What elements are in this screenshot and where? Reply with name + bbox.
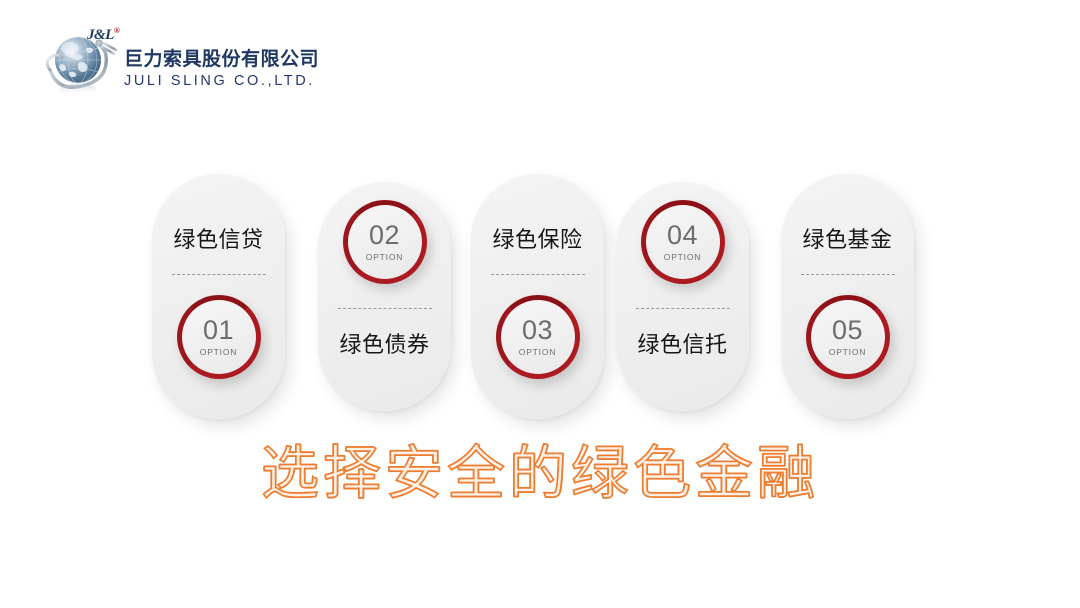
- option-number-circle[interactable]: 05 OPTION: [806, 295, 890, 379]
- option-sublabel: OPTION: [664, 253, 701, 262]
- card-divider: [801, 274, 895, 275]
- company-name-cn: 巨力索具股份有限公司: [124, 48, 319, 72]
- headline-title: 选择安全的绿色金融: [0, 440, 1080, 507]
- option-card-label: 绿色信贷: [173, 230, 263, 252]
- jl-monogram-text: J&L: [87, 27, 114, 43]
- option-sublabel: OPTION: [519, 348, 556, 357]
- registered-trademark-icon: ®: [114, 26, 120, 35]
- company-name-en: JULI SLING CO.,LTD.: [124, 72, 319, 92]
- option-card-label: 绿色保险: [492, 230, 582, 252]
- option-number-circle[interactable]: 02 OPTION: [343, 200, 427, 284]
- option-card-03[interactable]: 绿色保险 03 OPTION: [471, 174, 604, 419]
- card-divider: [636, 308, 730, 309]
- option-number: 02: [369, 222, 400, 249]
- company-logo: 巨力索具股份有限公司 JULI SLING CO.,LTD. J&L®: [42, 24, 332, 104]
- option-card-label: 绿色信托: [637, 335, 727, 357]
- option-number: 01: [203, 317, 234, 344]
- option-card-05[interactable]: 绿色基金 05 OPTION: [781, 174, 914, 419]
- option-card-01[interactable]: 绿色信贷 01 OPTION: [152, 174, 285, 419]
- option-card-04[interactable]: 04 OPTION 绿色信托: [616, 182, 749, 411]
- option-number-circle[interactable]: 03 OPTION: [496, 295, 580, 379]
- option-card-02[interactable]: 02 OPTION 绿色债券: [318, 182, 451, 411]
- option-sublabel: OPTION: [829, 348, 866, 357]
- option-sublabel: OPTION: [366, 253, 403, 262]
- option-number: 05: [832, 317, 863, 344]
- card-divider: [491, 274, 585, 275]
- option-number: 03: [522, 317, 553, 344]
- option-number: 04: [667, 222, 698, 249]
- card-divider: [172, 274, 266, 275]
- option-card-row: 绿色信贷 01 OPTION 02 OPTION 绿色债券 绿色保险 03 OP…: [0, 168, 1080, 424]
- option-sublabel: OPTION: [200, 348, 237, 357]
- option-card-label: 绿色基金: [802, 230, 892, 252]
- option-card-label: 绿色债券: [339, 335, 429, 357]
- option-number-circle[interactable]: 01 OPTION: [177, 295, 261, 379]
- jl-monogram: J&L®: [87, 26, 120, 44]
- card-divider: [338, 308, 432, 309]
- option-number-circle[interactable]: 04 OPTION: [641, 200, 725, 284]
